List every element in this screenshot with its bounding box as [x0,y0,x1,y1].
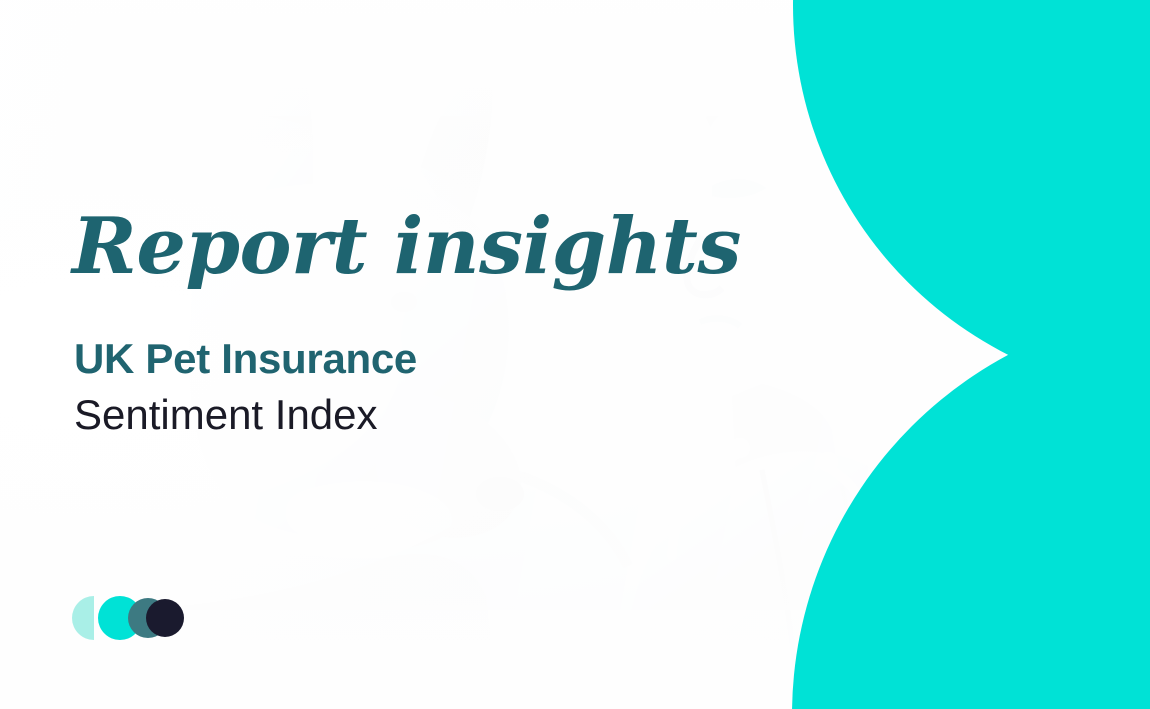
navy-circle-icon [146,599,184,637]
report-cover-slide: Report insights UK Pet Insurance Sentime… [0,0,1150,709]
brand-logo [72,596,184,640]
cyan-circle-bottom [792,307,1150,709]
subtitle-line-2: Sentiment Index [74,394,378,436]
page-title: Report insights [72,208,741,286]
mint-half-circle-icon [72,596,94,640]
subtitle-line-1: UK Pet Insurance [74,338,417,380]
